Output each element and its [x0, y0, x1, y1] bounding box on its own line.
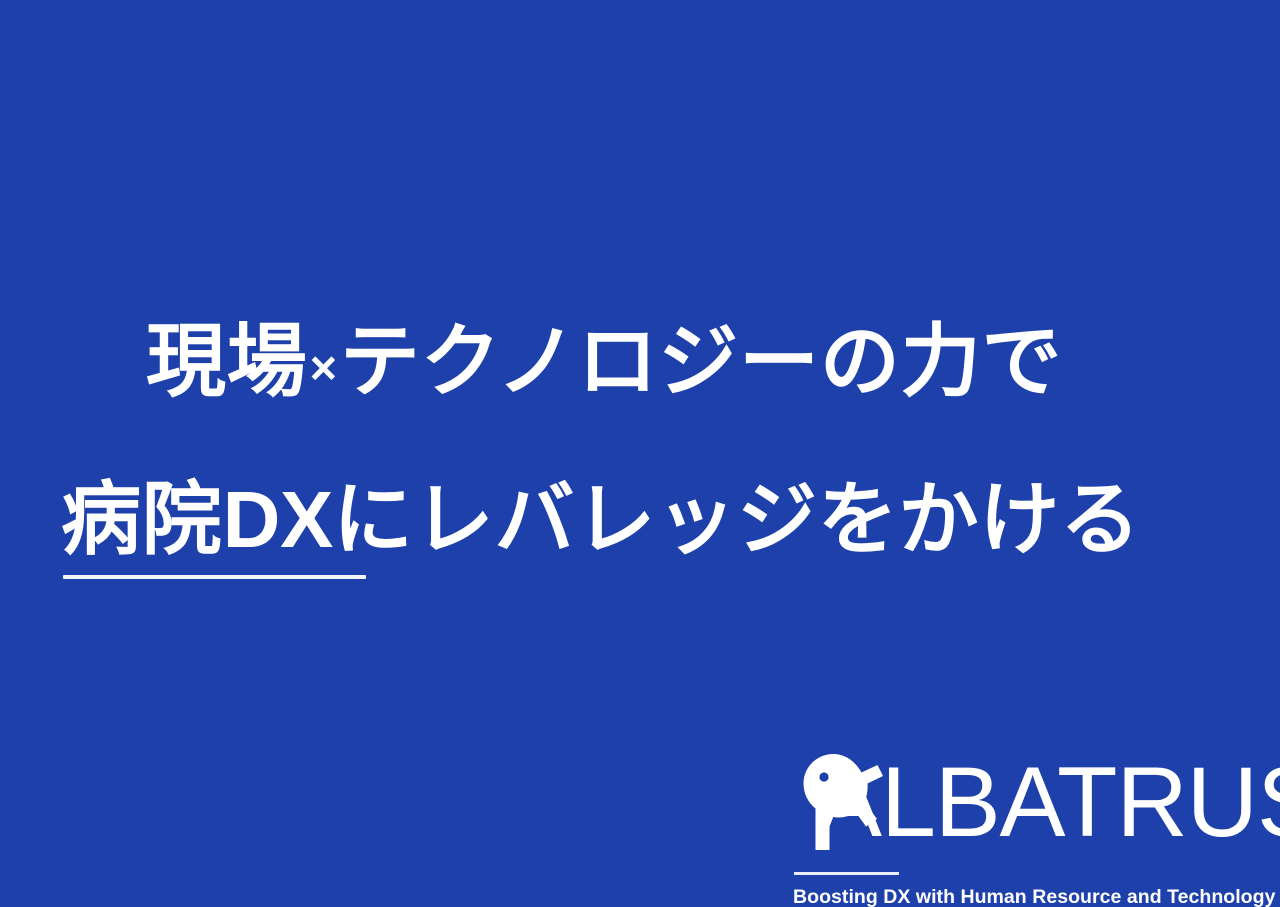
- brand-logo-lockup: ALBATRUS Boosting DX with Human Resource…: [793, 752, 1280, 856]
- title-slide: 現場×テクノロジーの力で 病院DXにレバレッジをかける ALBATRUS Boo…: [0, 0, 1280, 907]
- headline-line-2-part-after: にレバレッジをかける: [333, 475, 1141, 564]
- headline-line-1-part-after: テクノロジーの力で: [340, 317, 1062, 406]
- multiplication-symbol: ×: [308, 341, 340, 394]
- logo-wordmark: ALBATRUS: [816, 750, 1280, 854]
- logo-mark-row: ALBATRUS: [793, 752, 1280, 856]
- headline-block: 現場×テクノロジーの力で 病院DXにレバレッジをかける: [0, 286, 1280, 596]
- headline-line-2-latin: DX: [223, 475, 333, 564]
- logo-tagline: Boosting DX with Human Resource and Tech…: [793, 886, 1275, 907]
- headline-underline-rule: [63, 575, 366, 579]
- headline-line-2-part-before: 病院: [61, 475, 223, 564]
- logo-divider-rule: [794, 872, 899, 875]
- headline-line-1-part-before: 現場: [146, 317, 308, 406]
- headline-line-2: 病院DXにレバレッジをかける: [0, 444, 1280, 596]
- headline-line-1: 現場×テクノロジーの力で: [0, 286, 1280, 444]
